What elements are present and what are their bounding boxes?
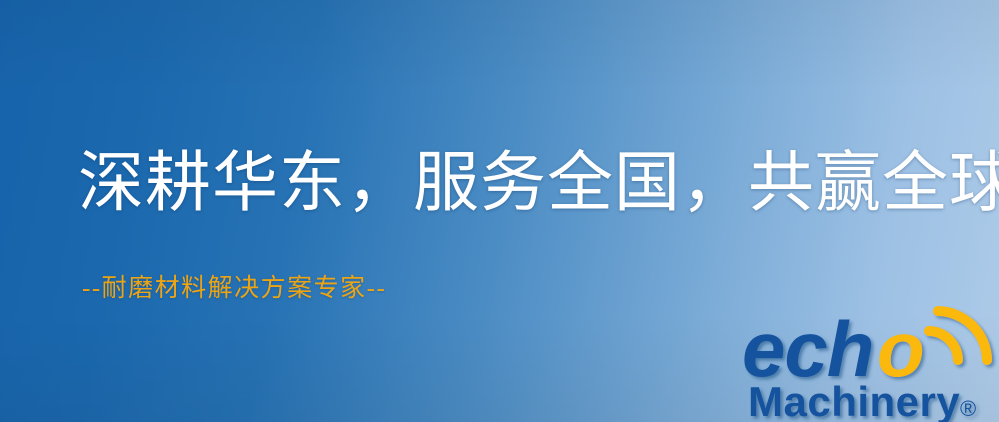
- banner-headline: 深耕华东，服务全国，共赢全球: [78, 150, 999, 217]
- logo-trademark-symbol: ®: [960, 396, 976, 421]
- echo-machinery-logo: ech o Machinery ®: [742, 298, 999, 422]
- logo-wordmark-machinery: Machinery: [748, 378, 960, 422]
- banner-subtitle: --耐磨材料解决方案专家--: [82, 268, 386, 304]
- promotional-banner: 深耕华东，服务全国，共赢全球 --耐磨材料解决方案专家-- ech o Mach…: [0, 0, 999, 422]
- echo-signal-arcs: [929, 311, 987, 360]
